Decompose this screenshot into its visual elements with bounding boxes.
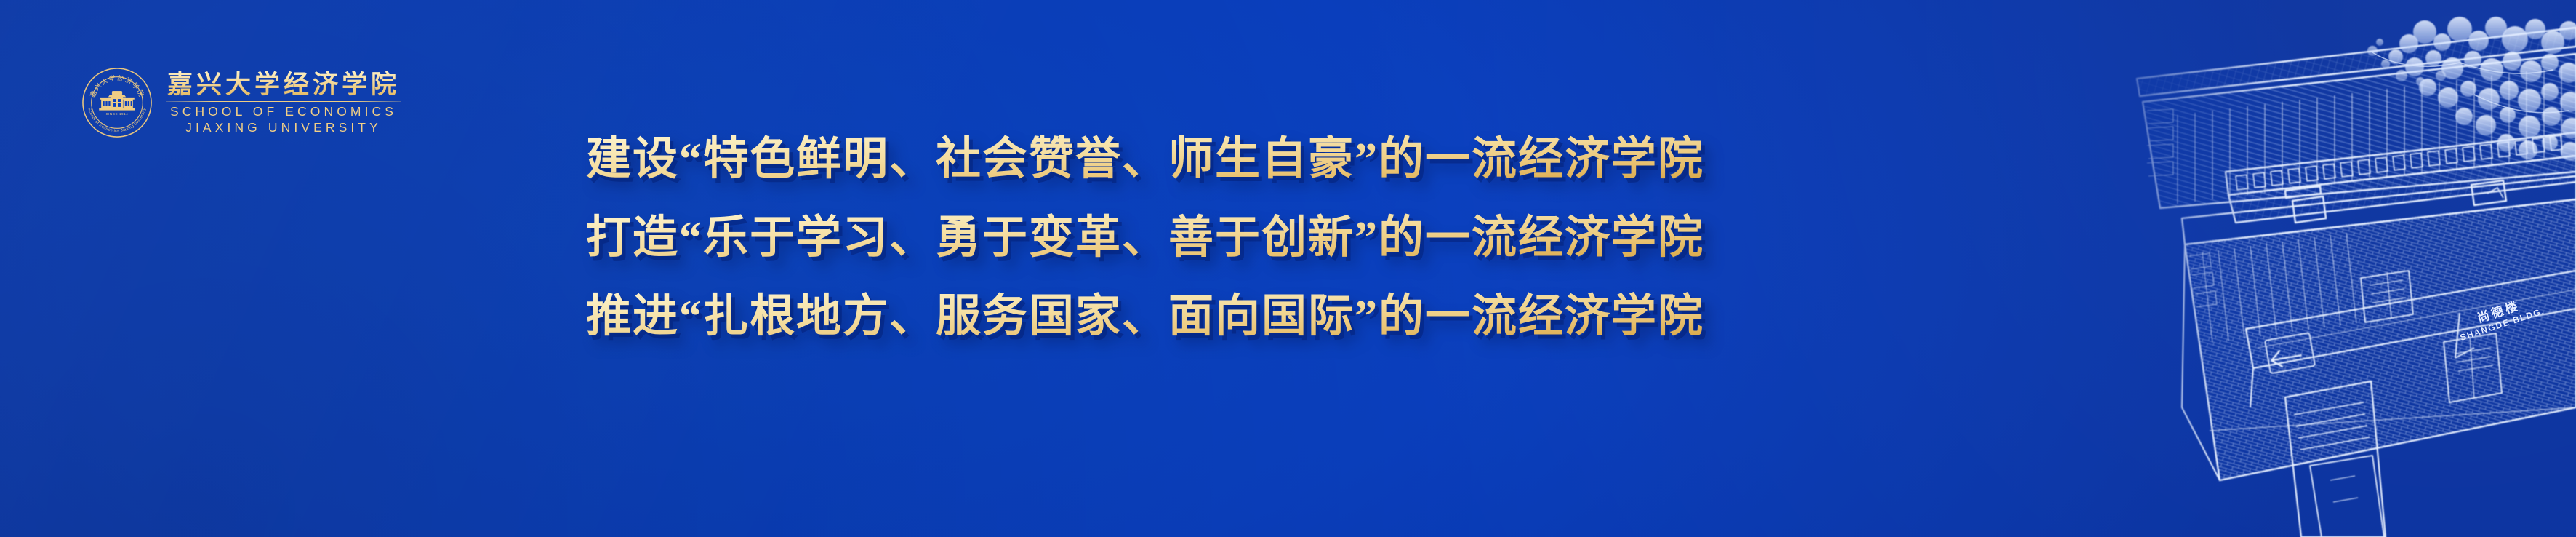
logo-divider — [166, 101, 401, 102]
university-hero-banner: 尚德楼 SHANGDE BLDG. 嘉兴大学经济学院 School of Eco… — [0, 0, 2576, 537]
school-name-cn: 嘉兴大学经济学院 — [166, 71, 401, 100]
slogan-line-1: 建设“特色鲜明、社会赞誉、师生自豪”的一流经济学院 — [586, 125, 1704, 194]
slogan-block: 建设“特色鲜明、社会赞誉、师生自豪”的一流经济学院 打造“乐于学习、勇于变革、善… — [586, 125, 1704, 351]
school-logo-lockup[interactable]: 嘉兴大学经济学院 School of Economics Jiaxing Uni… — [81, 67, 401, 138]
school-seal-icon: 嘉兴大学经济学院 School of Economics Jiaxing Uni… — [81, 67, 153, 138]
building-sign-label: 尚德楼 SHANGDE BLDG. — [2454, 293, 2545, 342]
svg-text:SINCE 1914: SINCE 1914 — [106, 112, 129, 116]
building-sign-label-en: SHANGDE BLDG. — [2459, 306, 2545, 343]
campus-building-blueprint-illustration: 尚德楼 SHANGDE BLDG. — [2067, 0, 2576, 537]
school-name-en-line2: JIAXING UNIVERSITY — [185, 120, 382, 136]
slogan-line-2: 打造“乐于学习、勇于变革、善于创新”的一流经济学院 — [586, 204, 1704, 272]
building-sign-label-cn: 尚德楼 — [2454, 293, 2542, 333]
school-name-en-line1: SCHOOL OF ECONOMICS — [170, 104, 397, 120]
school-name-block: 嘉兴大学经济学院 SCHOOL OF ECONOMICS JIAXING UNI… — [166, 70, 401, 136]
slogan-line-3: 推进“扎根地方、服务国家、面向国际”的一流经济学院 — [586, 282, 1704, 351]
